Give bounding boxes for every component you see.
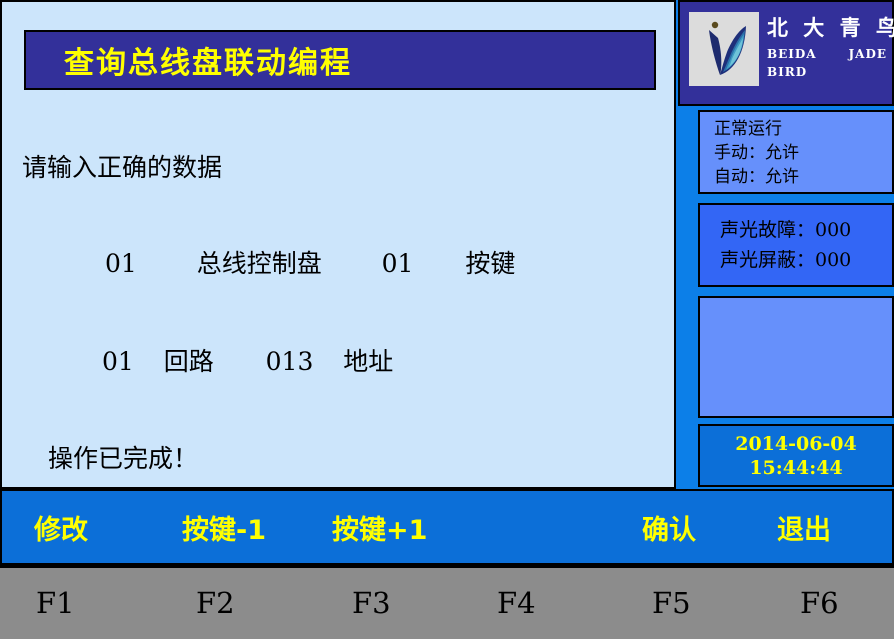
audible-fault-count: 声光故障：000: [720, 215, 892, 245]
fn-label-f2[interactable]: 按键-1: [182, 508, 266, 547]
fault-counter-panel: 声光故障：000 声光屏蔽：000: [698, 203, 894, 287]
fkey-f1[interactable]: F1: [36, 586, 75, 620]
address-selection-row: 01 回路 013 地址: [102, 342, 393, 378]
brand-logo-panel: 北 大 青 鸟 BEIDA JADE BIRD: [678, 0, 894, 106]
page-title-bar: 查询总线盘联动编程: [24, 30, 656, 90]
main-content-area: 查询总线盘联动编程 请输入正确的数据 01 总线控制盘 01 按键 01 回路 …: [0, 0, 676, 489]
brand-en-beida: BEIDA: [767, 47, 817, 61]
empty-info-panel: [698, 296, 894, 418]
operation-status-message: 操作已完成！: [48, 439, 198, 475]
loop-number-value[interactable]: 01: [102, 347, 134, 376]
fn-label-f3[interactable]: 按键+1: [332, 508, 427, 547]
jade-bird-logo-icon: [689, 12, 759, 86]
datetime-panel: 2014-06-04 15:44:44: [698, 424, 894, 487]
device-selection-row: 01 总线控制盘 01 按键: [105, 244, 515, 280]
manual-mode-text: 手动：允许: [714, 141, 892, 165]
fkey-f2[interactable]: F2: [196, 586, 235, 620]
input-prompt-text: 请输入正确的数据: [22, 148, 222, 184]
key-label: 按键: [465, 249, 515, 278]
key-number-value[interactable]: 01: [382, 249, 414, 278]
brand-en-jade: JADE: [848, 47, 887, 61]
brand-name-en-line1: BEIDA JADE: [767, 47, 887, 61]
audible-isolate-count: 声光屏蔽：000: [720, 245, 892, 275]
run-state-text: 正常运行: [714, 117, 892, 141]
auto-mode-text: 自动：允许: [714, 165, 892, 189]
fn-label-f1[interactable]: 修改: [34, 508, 88, 547]
function-label-bar: 修改 按键-1 按键+1 确认 退出: [0, 489, 894, 565]
brand-name-en-line2: BIRD: [767, 65, 894, 79]
fkey-f3[interactable]: F3: [352, 586, 391, 620]
loop-label: 回路: [164, 347, 214, 376]
fkey-f6[interactable]: F6: [800, 586, 839, 620]
current-time: 15:44:44: [749, 456, 842, 480]
fn-label-f6[interactable]: 退出: [777, 508, 831, 547]
current-date: 2014-06-04: [735, 432, 857, 456]
sidebar: 北 大 青 鸟 BEIDA JADE BIRD 正常运行 手动：允许 自动：允许…: [676, 0, 894, 489]
fkey-bar: F1 F2 F3 F4 F5 F6: [0, 565, 894, 639]
system-status-panel: 正常运行 手动：允许 自动：允许: [698, 110, 894, 194]
fkey-f4[interactable]: F4: [497, 586, 536, 620]
address-label: 地址: [343, 347, 393, 376]
panel-number-value[interactable]: 01: [105, 249, 137, 278]
panel-type-label: 总线控制盘: [197, 249, 322, 278]
address-number-value[interactable]: 013: [266, 347, 314, 376]
page-title: 查询总线盘联动编程: [64, 38, 352, 82]
fkey-f5[interactable]: F5: [652, 586, 691, 620]
brand-name-cn: 北 大 青 鸟: [767, 12, 894, 42]
fire-alarm-panel-screen: 查询总线盘联动编程 请输入正确的数据 01 总线控制盘 01 按键 01 回路 …: [0, 0, 894, 639]
brand-text-block: 北 大 青 鸟 BEIDA JADE BIRD: [767, 12, 894, 79]
fn-label-f5[interactable]: 确认: [642, 508, 696, 547]
